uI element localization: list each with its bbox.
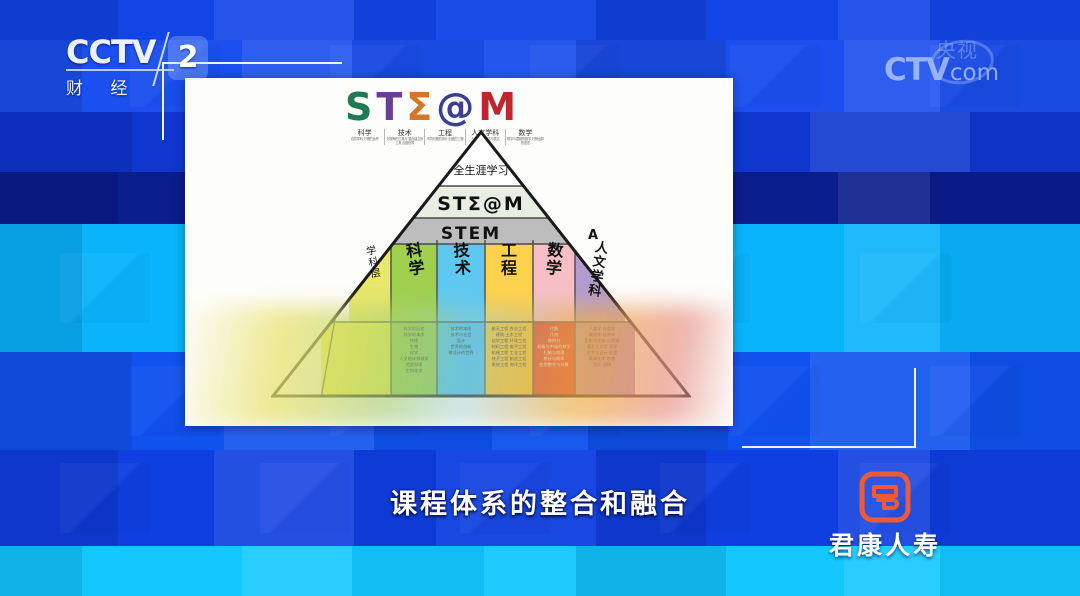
cctv-com-watermark: 央视 CTV com [884, 52, 999, 88]
bg-tile [0, 546, 82, 596]
bg-tile [354, 0, 436, 40]
bg-tile [242, 546, 352, 596]
tv-broadcast-screen: S T Σ @ M 科学 自然学科 万物的运作 技术 对现有的工具与 整合建立的… [0, 0, 1080, 596]
channel-name-label: 财 经 [66, 74, 174, 99]
bg-tile [930, 172, 1080, 224]
bg-tile [0, 172, 118, 224]
bg-motif [730, 45, 820, 107]
bg-motif [930, 366, 1020, 436]
svg-text:程: 程 [501, 259, 517, 278]
bg-tile [0, 112, 132, 172]
steam-letters: S T Σ @ M [345, 88, 545, 126]
bg-band [0, 0, 1080, 40]
bg-tile [728, 112, 810, 172]
bg-tile [352, 546, 484, 596]
svg-text:术: 术 [453, 258, 471, 278]
bg-tile [838, 0, 930, 40]
slide-color-glow [185, 306, 733, 426]
bg-tile [82, 546, 242, 596]
bg-tile [214, 0, 354, 40]
svg-text:学: 学 [545, 258, 563, 278]
bg-tile [576, 546, 726, 596]
svg-text:学: 学 [407, 257, 426, 278]
bg-motif [860, 253, 950, 323]
sponsor-block: 君康人寿 [806, 470, 964, 562]
steam-letter-s: S [345, 88, 372, 126]
frame-bracket-bottom-right [742, 368, 916, 448]
svg-text:科: 科 [587, 282, 602, 300]
pyramid-tier-steam: STΣ@M [437, 193, 525, 215]
watermark-cn-text: 央视 [936, 34, 978, 63]
channel-number-badge: 2 [168, 36, 208, 80]
bg-motif [60, 253, 150, 323]
sponsor-seal-icon [858, 470, 912, 524]
bg-tile [596, 0, 706, 40]
steam-letter-t: T [376, 88, 402, 126]
bg-tile [436, 0, 596, 40]
pyramid-tier-stem: STEM [441, 224, 501, 244]
bg-tile [706, 0, 838, 40]
bg-tile [940, 224, 1080, 352]
column-title-engineering: 工程 [501, 241, 517, 278]
svg-text:学: 学 [365, 243, 377, 258]
steam-letter-m: M [478, 88, 516, 126]
steam-letter-sigma: Σ [406, 88, 432, 126]
sponsor-name: 君康人寿 [806, 526, 964, 562]
pyramid-apex-label: 全生涯学习 [454, 163, 509, 177]
bg-tile [810, 112, 970, 172]
svg-text:工: 工 [501, 241, 517, 260]
bg-tile [970, 112, 1080, 172]
bg-tile [0, 352, 132, 450]
steam-letter-at: @ [436, 88, 474, 126]
bg-tile [484, 546, 576, 596]
bg-tile [838, 172, 930, 224]
channel-number-text: 2 [168, 36, 208, 80]
